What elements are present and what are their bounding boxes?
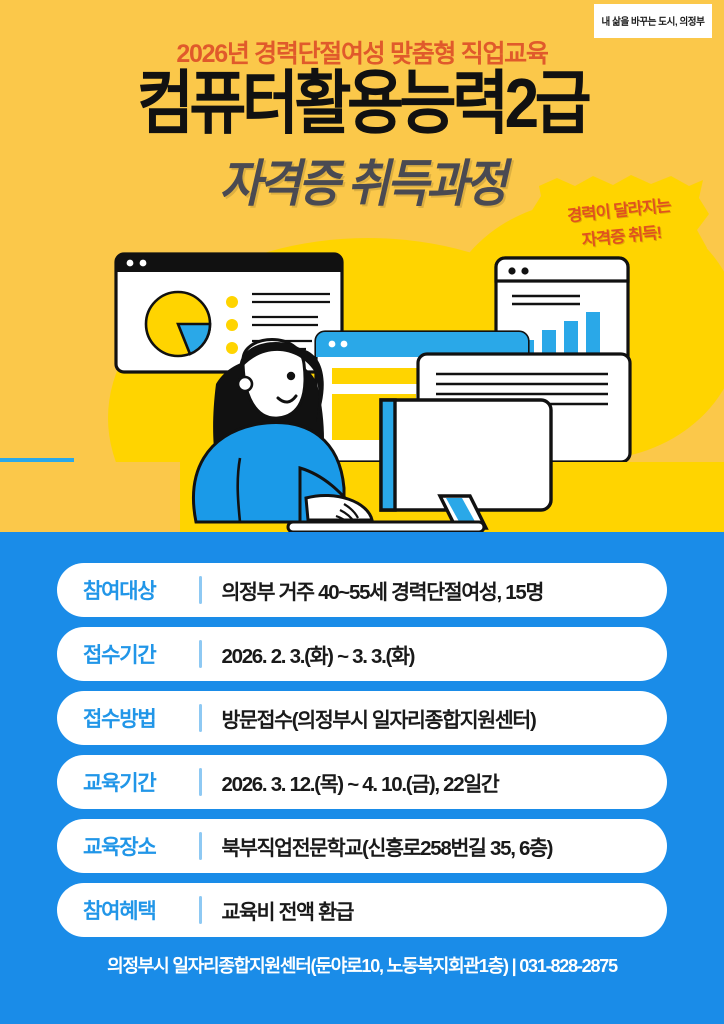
row-divider [199, 832, 202, 860]
doc-window-dot-1 [329, 341, 336, 348]
row-label-application-period: 접수기간 [83, 639, 199, 669]
row-divider [199, 704, 202, 732]
row-divider [199, 576, 202, 604]
row-value-benefits: 교육비 전액 환급 [222, 895, 354, 925]
poster-root: 내 삶을 바꾸는 도시, 의정부 2026년 경력단절여성 맞춤형 직업교육 컴… [0, 0, 724, 1024]
page-title: 컴퓨터활용능력2급 [0, 70, 724, 139]
table-row: 접수기간 2026. 2. 3.(화) ~ 3. 3.(화) [57, 627, 667, 681]
table-row: 교육장소 북부직업전문학교(신흥로258번길 35, 6층) [57, 819, 667, 873]
illustration-svg [0, 236, 724, 546]
city-logo-text: 내 삶을 바꾸는 도시, 의정부 [602, 14, 705, 29]
table-row: 교육기간 2026. 3. 12.(목) ~ 4. 10.(금), 22일간 [57, 755, 667, 809]
row-divider [199, 768, 202, 796]
pie-legend-bullet-3 [226, 342, 238, 354]
poster-top-section: 내 삶을 바꾸는 도시, 의정부 2026년 경력단절여성 맞춤형 직업교육 컴… [0, 0, 724, 546]
window-dot-2 [140, 260, 147, 267]
poster-footer-contact: 의정부시 일자리종합지원센터(둔야로10, 노동복지회관1층) | 031-82… [0, 952, 724, 978]
row-label-training-location: 교육장소 [83, 831, 199, 861]
woman-eye [287, 372, 295, 380]
window-dot-1 [127, 260, 134, 267]
row-value-participants: 의정부 거주 40~55세 경력단절여성, 15명 [222, 575, 544, 605]
desk-front-edge [0, 532, 724, 546]
row-value-training-location: 북부직업전문학교(신흥로258번길 35, 6층) [222, 831, 553, 861]
table-row: 참여혜택 교육비 전액 환급 [57, 883, 667, 937]
pie-legend-bullet-2 [226, 319, 238, 331]
keyboard [288, 522, 484, 532]
row-label-application-method: 접수방법 [83, 703, 199, 733]
row-value-training-period: 2026. 3. 12.(목) ~ 4. 10.(금), 22일간 [222, 767, 499, 797]
doc-window-dot-2 [341, 341, 348, 348]
row-label-training-period: 교육기간 [83, 767, 199, 797]
row-label-benefits: 참여혜택 [83, 895, 199, 925]
table-row: 접수방법 방문접수(의정부시 일자리종합지원센터) [57, 691, 667, 745]
woman-ear [238, 377, 252, 391]
pie-chart-graphic [146, 292, 210, 356]
info-row-list: 참여대상 의정부 거주 40~55세 경력단절여성, 15명 접수기간 2026… [57, 563, 667, 937]
row-divider [199, 896, 202, 924]
hero-illustration [0, 236, 724, 546]
pie-legend-bullet-1 [226, 296, 238, 308]
poster-bottom-section: 참여대상 의정부 거주 40~55세 경력단절여성, 15명 접수기간 2026… [0, 546, 724, 1024]
city-logo: 내 삶을 바꾸는 도시, 의정부 [594, 4, 712, 38]
row-value-application-period: 2026. 2. 3.(화) ~ 3. 3.(화) [222, 639, 415, 669]
table-row: 참여대상 의정부 거주 40~55세 경력단절여성, 15명 [57, 563, 667, 617]
row-value-application-method: 방문접수(의정부시 일자리종합지원센터) [222, 703, 536, 733]
bar-window-dot-2 [521, 267, 528, 274]
row-divider [199, 640, 202, 668]
bar-window-dot-1 [508, 267, 515, 274]
desktop-monitor [381, 400, 551, 528]
row-label-participants: 참여대상 [83, 575, 199, 605]
